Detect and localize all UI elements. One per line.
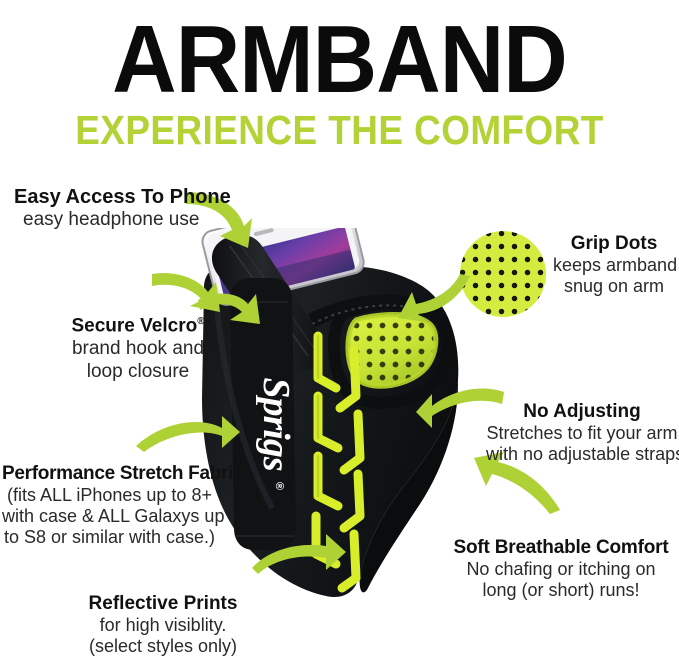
arrow-to-grip-dots-icon bbox=[398, 272, 472, 328]
callout-line: (fits ALL iPhones up to 8+ bbox=[2, 485, 217, 506]
grip-dots-swatch-icon bbox=[460, 231, 546, 317]
callout-title: Performance Stretch Fabric bbox=[2, 462, 217, 485]
callout-line: long (or short) runs! bbox=[443, 580, 679, 601]
callout-title-text: Secure Velcro bbox=[72, 315, 198, 336]
callout-line: snug on arm bbox=[553, 276, 675, 297]
arrow-to-reflective-prints-icon bbox=[250, 528, 350, 578]
callout-line: with no adjustable straps bbox=[486, 444, 678, 465]
callout-title: Soft Breathable Comfort bbox=[443, 536, 679, 559]
callout-line: with case & ALL Galaxys up bbox=[2, 506, 217, 527]
callout-line: (select styles only) bbox=[78, 636, 248, 657]
header: ARMBAND EXPERIENCE THE COMFORT bbox=[0, 0, 679, 160]
callout-title: Easy Access To Phone bbox=[14, 186, 231, 209]
page-subtitle: EXPERIENCE THE COMFORT bbox=[34, 108, 645, 152]
svg-text:®: ® bbox=[273, 482, 285, 490]
callout-performance-fabric: Performance Stretch Fabric (fits ALL iPh… bbox=[2, 462, 217, 548]
callout-line: brand hook and bbox=[48, 337, 228, 360]
registered-trademark-icon: ® bbox=[197, 316, 204, 327]
callout-title: Secure Velcro® bbox=[48, 310, 228, 337]
callout-line: for high visiblity. bbox=[78, 615, 248, 636]
callout-line: to S8 or similar with case.) bbox=[2, 527, 217, 548]
callout-line: easy headphone use bbox=[14, 209, 231, 231]
callout-no-adjusting: No Adjusting Stretches to fit your arm w… bbox=[486, 400, 678, 465]
callout-title: Reflective Prints bbox=[78, 592, 248, 615]
svg-text:Sprigs: Sprigs bbox=[255, 377, 297, 470]
callout-line: Stretches to fit your arm bbox=[486, 423, 678, 444]
callout-title: Grip Dots bbox=[553, 232, 675, 255]
callout-line: keeps armband bbox=[553, 255, 675, 276]
callout-reflective-prints: Reflective Prints for high visiblity. (s… bbox=[78, 592, 248, 657]
callout-soft-breathable: Soft Breathable Comfort No chafing or it… bbox=[443, 536, 679, 601]
infographic-page: ARMBAND EXPERIENCE THE COMFORT bbox=[0, 0, 679, 664]
callout-line: No chafing or itching on bbox=[443, 559, 679, 580]
callout-title: No Adjusting bbox=[486, 400, 678, 423]
callout-grip-dots: Grip Dots keeps armband snug on arm bbox=[553, 232, 675, 297]
grip-dots-pattern bbox=[460, 231, 546, 317]
callout-easy-access: Easy Access To Phone easy headphone use bbox=[14, 186, 231, 231]
callout-line: loop closure bbox=[48, 360, 228, 383]
arrow-to-fabric-icon bbox=[134, 408, 244, 456]
callout-secure-velcro: Secure Velcro® brand hook and loop closu… bbox=[48, 310, 228, 383]
page-title: ARMBAND bbox=[24, 0, 655, 112]
